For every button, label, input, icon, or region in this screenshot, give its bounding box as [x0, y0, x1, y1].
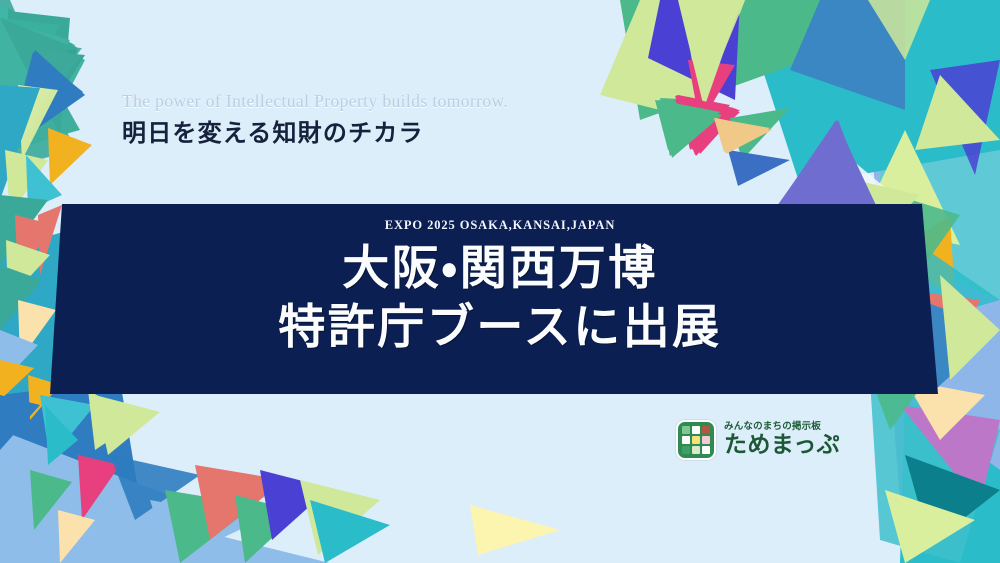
banner-polygon	[50, 204, 938, 394]
poster-canvas: The power of Intellectual Property build…	[0, 0, 1000, 563]
logo-subtitle: みんなのまちの掲示板	[724, 422, 840, 432]
tamemap-logo[interactable]: みんなのまちの掲示板 ためまっぷ	[676, 420, 840, 460]
logo-tile	[702, 436, 710, 444]
logo-tile	[702, 426, 710, 434]
logo-tile	[702, 446, 710, 454]
tamemap-logo-text: みんなのまちの掲示板 ためまっぷ	[724, 422, 840, 458]
logo-tile	[682, 446, 690, 454]
tagline-japanese: 明日を変える知財のチカラ	[122, 118, 508, 149]
logo-tile	[682, 426, 690, 434]
tagline-english: The power of Intellectual Property build…	[122, 90, 508, 114]
navy-banner-shape	[0, 196, 1000, 406]
tagline-block: The power of Intellectual Property build…	[122, 90, 508, 149]
logo-tile	[692, 426, 700, 434]
tamemap-logo-icon	[676, 420, 716, 460]
logo-tile	[682, 436, 690, 444]
logo-tile	[692, 446, 700, 454]
logo-name: ためまっぷ	[724, 433, 840, 458]
logo-tile	[692, 436, 700, 444]
